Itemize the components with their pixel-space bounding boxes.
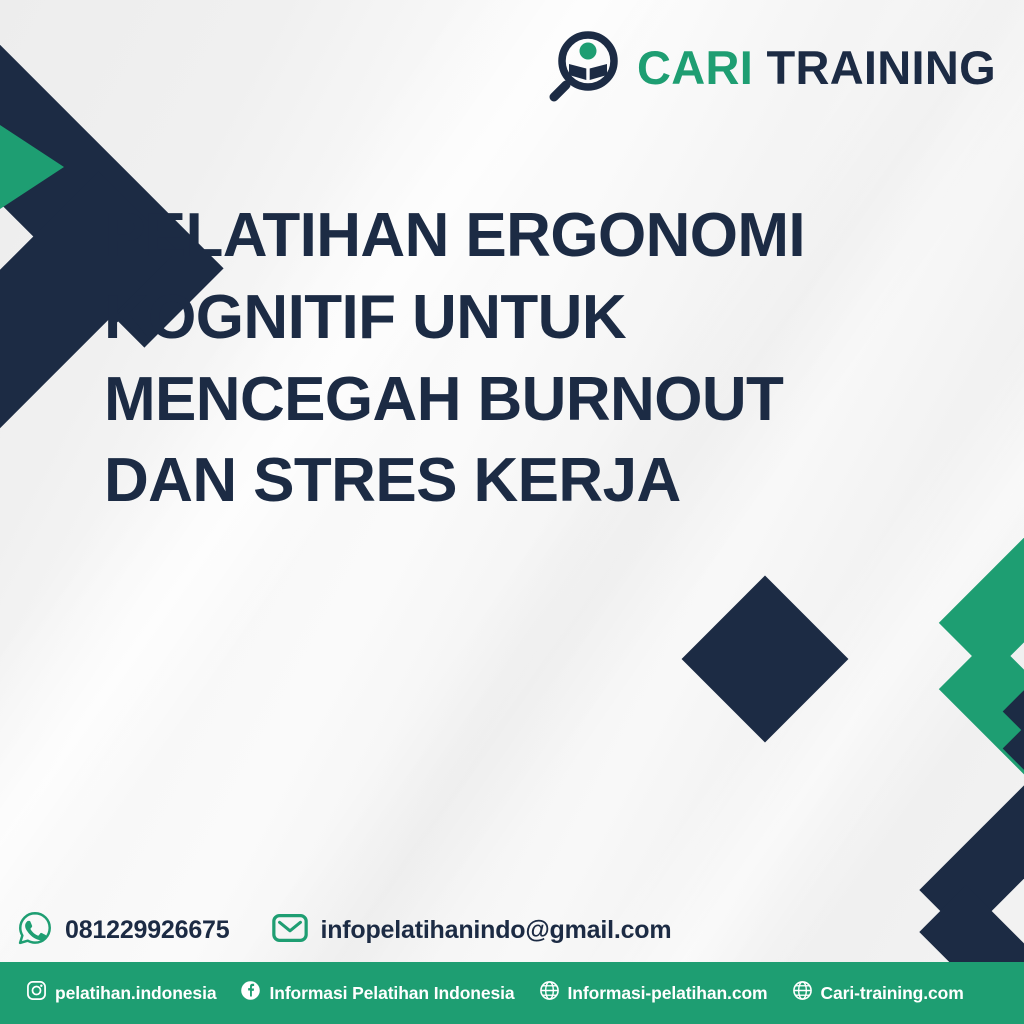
- brand-name-training: TRAINING: [766, 41, 996, 94]
- navy-diamond-shape: [682, 576, 849, 743]
- contact-phone[interactable]: 081229926675: [16, 909, 229, 952]
- whatsapp-icon: [16, 909, 54, 952]
- footer-label-website-1: Informasi-pelatihan.com: [568, 983, 768, 1004]
- globe-icon: [792, 980, 813, 1006]
- top-left-green-arrow: [0, 62, 64, 272]
- footer-label-facebook: Informasi Pelatihan Indonesia: [269, 983, 514, 1004]
- title-line-3: MENCEGAH BURNOUT: [104, 359, 894, 441]
- right-green-chevron-upper: [939, 319, 1024, 675]
- facebook-icon: [240, 980, 261, 1006]
- phone-number: 081229926675: [65, 916, 229, 945]
- right-green-chevron-lower: [939, 637, 1024, 993]
- email-address: infopelatihanindo@gmail.com: [320, 916, 671, 945]
- bottom-right-navy-chevron-upper: [919, 713, 1024, 936]
- globe-icon: [539, 980, 560, 1006]
- magnifier-book-icon: [547, 30, 621, 104]
- footer-item-facebook[interactable]: Informasi Pelatihan Indonesia: [240, 980, 514, 1006]
- title-line-1: PELATIHAN ERGONOMI: [104, 195, 894, 277]
- footer-item-instagram[interactable]: pelatihan.indonesia: [26, 980, 216, 1006]
- right-navy-chevron-upper: [1003, 535, 1024, 756]
- footer-item-website-2[interactable]: Cari-training.com: [792, 980, 964, 1006]
- contact-bar: 081229926675 infopelatihanindo@gmail.com: [16, 909, 671, 952]
- brand-logo: CARI TRAINING: [547, 30, 996, 104]
- page-title: PELATIHAN ERGONOMI KOGNITIF UNTUK MENCEG…: [104, 195, 894, 522]
- poster-canvas: CARI TRAINING PELATIHAN ERGONOMI KOGNITI…: [0, 0, 1024, 1024]
- instagram-icon: [26, 980, 47, 1006]
- right-navy-chevron-lower: [1003, 705, 1024, 926]
- social-footer-bar: pelatihan.indonesia Informasi Pelatihan …: [0, 962, 1024, 1024]
- brand-name-cari: CARI: [637, 41, 753, 94]
- contact-email[interactable]: infopelatihanindo@gmail.com: [271, 909, 671, 952]
- title-line-2: KOGNITIF UNTUK: [104, 277, 894, 359]
- footer-label-website-2: Cari-training.com: [821, 983, 964, 1004]
- brand-wordmark: CARI TRAINING: [637, 44, 996, 91]
- footer-item-website-1[interactable]: Informasi-pelatihan.com: [539, 980, 768, 1006]
- email-icon: [271, 909, 309, 952]
- title-line-4: DAN STRES KERJA: [104, 440, 894, 522]
- footer-label-instagram: pelatihan.indonesia: [55, 983, 216, 1004]
